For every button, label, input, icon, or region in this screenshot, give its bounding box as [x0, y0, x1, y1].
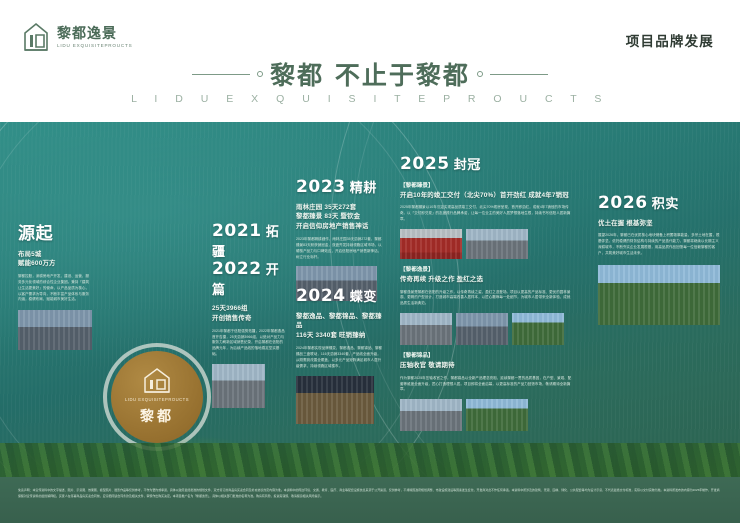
milestone-2025-heading: 2025封冠 [400, 155, 572, 175]
brand-logo-text: 黎都逸景 LIDU EXQUISITEPROUCTS [57, 26, 133, 48]
block-zhenjing-body: 2025年黎都臻景以10年沉淀实现高品质竣工交付，北尖70%现房呈现，首开即劲红… [400, 205, 572, 222]
milestone-origin-subheading: 布局5城 赋能600万方 [18, 250, 92, 270]
milestone-2026-year: 2026 [598, 193, 648, 213]
poster-header: 黎都逸景 LIDU EXQUISITEPROUCTS 项目品牌发展 黎都 不止于… [0, 0, 740, 122]
block-yijing-label: 【黎都逸景】 [400, 265, 572, 273]
milestone-2021-subheading: 25天3966组 开创销售传奇 [212, 304, 286, 324]
milestone-2026-body: 展望2026年，黎都已在优质核心地块储备上积蓄雄厚能量，多宗土地在握，根基弥坚。… [598, 233, 720, 256]
milestone-2025-block-yijing: 【黎都逸景】 传奇再续 升级之作 盈红之选 黎都逸景是黎都在信阳的升级之作，以传… [400, 265, 572, 345]
legal-disclaimer: 免责声明：本宣传资料中的文字描述、图片、示意图、效果图、模型照片、摄影作品等仅供… [0, 477, 740, 523]
block-yijing-photo-2 [456, 313, 508, 345]
block-yijing-subheading: 传奇再续 升级之作 盈红之选 [400, 275, 572, 285]
block-zhenjing-photo-2 [466, 229, 528, 259]
milestone-2025: 2025封冠 【黎都臻景】 开启10年的竣工交付（北尖70%）首开劲红 成就4年… [400, 155, 572, 431]
title-rule-left [192, 74, 250, 75]
block-zhenjing-label: 【黎都臻景】 [400, 181, 572, 189]
milestone-2026-heading: 2026积实 [598, 194, 720, 214]
brand-logo: 黎都逸景 LIDU EXQUISITEPROUCTS [22, 22, 133, 52]
milestone-2021-body: 2021年黎都于信阳强势拓疆，2022年黎都逸品首开告捷，25天劲销3966组，… [212, 329, 286, 358]
milestone-2024-heading: 2024蝶变 [296, 287, 384, 307]
header-section-label: 项目品牌发展 [626, 30, 714, 50]
main-title-row: 黎都 不止于黎都 [0, 56, 740, 92]
badge-en-text: LIDU EXQUISITEPROUCTS [125, 397, 189, 402]
milestone-2026-subheading: 优土在握 根基弥坚 [598, 219, 720, 229]
block-yijing-photo-1 [400, 313, 452, 345]
house-logo-icon [22, 22, 50, 52]
milestone-2023-year: 2023 [296, 177, 346, 197]
page-subtitle: L I D U E X Q U I S I T E P R O U C T S [0, 93, 740, 105]
block-jinpin-subheading: 压轴收官 敬请期待 [400, 361, 572, 371]
block-yijing-photo-3 [512, 313, 564, 345]
milestone-origin-body: 黎都控股，深耕房地产开发、建设、运营、服务多元化领域的综合性企业集团。秉持「建筑… [18, 274, 92, 303]
milestone-2024: 2024蝶变 黎都逸品、黎都锦品、黎都臻品 116天 3340套 旺销臻纳 20… [296, 287, 384, 424]
title-rule-right [490, 74, 548, 75]
milestone-2023-subheading: 雨林庄园 35天272套 黎都臻景 83天 暨钦金 开启信仰房地产销售神话 [296, 203, 384, 233]
milestone-2026-photo [598, 265, 720, 325]
block-zhenjing-photos [400, 229, 572, 259]
block-zhenjing-photo-1 [400, 229, 462, 259]
legal-disclaimer-text: 免责声明：本宣传资料中的文字描述、图片、示意图、效果图、模型照片、摄影作品等仅供… [18, 488, 722, 499]
block-zhenjing-subheading: 开启10年的竣工交付（北尖70%）首开劲红 成就4年7销冠 [400, 191, 572, 201]
timeline-board: 源起 布局5城 赋能600万方 黎都控股，深耕房地产开发、建设、运营、服务多元化… [0, 122, 740, 477]
milestone-2024-tag: 蝶变 [350, 290, 377, 305]
brand-logo-en: LIDU EXQUISITEPROUCTS [57, 43, 133, 48]
brand-logo-cn: 黎都逸景 [57, 26, 133, 41]
milestone-2025-year: 2025 [400, 154, 450, 174]
milestone-2021-year: 2021 [212, 221, 262, 241]
milestone-2025-tag: 封冠 [454, 158, 481, 173]
milestone-2023-heading: 2023精耕 [296, 178, 384, 198]
block-jinpin-body: 作为黎都2025年压轴收官之作，黎都锦品以全新产品理念亮相，延续黎都一贯的品质基… [400, 376, 572, 393]
milestone-2021-photo [212, 364, 265, 408]
milestone-2026-tag: 积实 [652, 197, 679, 212]
foliage-band-front [0, 443, 740, 477]
badge-house-logo-icon [142, 368, 172, 394]
milestone-2022-heading: 2022开篇 [212, 260, 286, 298]
milestone-2023-tag: 精耕 [350, 181, 377, 196]
milestone-2025-block-zhenjing: 【黎都臻景】 开启10年的竣工交付（北尖70%）首开劲红 成就4年7销冠 202… [400, 181, 572, 259]
title-dot-right-icon [477, 71, 483, 77]
block-yijing-photos [400, 313, 572, 345]
milestone-2024-body: 2024年黎都实现品牌蝶变，黎都逸品、黎都锦品、黎都臻品三盘联动，116天劲销3… [296, 346, 384, 369]
page-title: 黎都 不止于黎都 [270, 56, 470, 92]
title-dot-left-icon [257, 71, 263, 77]
milestone-2024-subheading: 黎都逸品、黎都锦品、黎都臻品 116天 3340套 旺销臻纳 [296, 312, 384, 342]
milestone-2023-body: 2023年黎都精耕细作，雨林庄园35天劲销272套，黎都臻景83天斩获销冠金，双… [296, 237, 384, 260]
milestone-origin: 源起 布局5城 赋能600万方 黎都控股，深耕房地产开发、建设、运营、服务多元化… [18, 225, 92, 350]
block-yijing-body: 黎都逸景是黎都在信阳的升级之作，以传奇再续之姿，盈红之选登场。项目以更高的产品标… [400, 290, 572, 307]
milestone-2026: 2026积实 优土在握 根基弥坚 展望2026年，黎都已在优质核心地块储备上积蓄… [598, 194, 720, 325]
milestone-2023: 2023精耕 雨林庄园 35天272套 黎都臻景 83天 暨钦金 开启信仰房地产… [296, 178, 384, 301]
milestone-origin-photo [18, 310, 92, 350]
milestone-origin-heading: 源起 [18, 225, 92, 245]
poster-root: 黎都逸景 LIDU EXQUISITEPROUCTS 项目品牌发展 黎都 不止于… [0, 0, 740, 523]
block-jinpin-label: 【黎都锦品】 [400, 351, 572, 359]
milestone-2024-year: 2024 [296, 286, 346, 306]
milestone-2021-2022: 2021拓疆 2022开篇 25天3966组 开创销售传奇 2021年黎都于信阳… [212, 222, 286, 408]
milestone-2021-heading: 2021拓疆 [212, 222, 286, 260]
milestone-2022-year: 2022 [212, 259, 262, 279]
